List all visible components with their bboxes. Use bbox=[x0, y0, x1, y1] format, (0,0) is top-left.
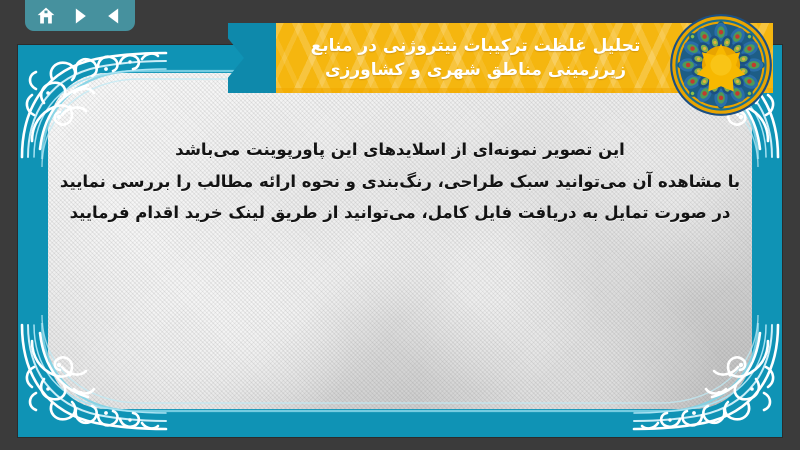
triangle-right-icon[interactable] bbox=[70, 6, 90, 26]
slide-body-text: این تصویر نمونه‌ای از اسلایدهای این پاور… bbox=[58, 137, 742, 226]
slide-stage: این تصویر نمونه‌ای از اسلایدهای این پاور… bbox=[0, 0, 800, 450]
body-line-1: این تصویر نمونه‌ای از اسلایدهای این پاور… bbox=[175, 137, 625, 163]
navigation-bar[interactable] bbox=[25, 0, 135, 31]
title-line-1: تحلیل غلظت ترکیبات نیتروژنی در منابع bbox=[311, 35, 641, 57]
body-line-3: در صورت تمایل به دریافت فایل کامل، می‌تو… bbox=[70, 200, 731, 226]
slide-content-panel bbox=[48, 73, 752, 409]
prev-slide-button[interactable] bbox=[104, 6, 124, 26]
title-line-2: زیرزمینی مناطق شهری و کشاورزی bbox=[325, 59, 626, 81]
halftone-texture bbox=[48, 73, 752, 409]
home-icon[interactable] bbox=[36, 6, 56, 26]
body-line-2: با مشاهده آن می‌توانید سبک طراحی، رنگ‌بن… bbox=[60, 169, 740, 195]
next-slide-button[interactable] bbox=[70, 6, 90, 26]
persian-mandala-icon bbox=[668, 12, 774, 118]
triangle-left-icon[interactable] bbox=[104, 6, 124, 26]
home-button[interactable] bbox=[36, 6, 56, 26]
